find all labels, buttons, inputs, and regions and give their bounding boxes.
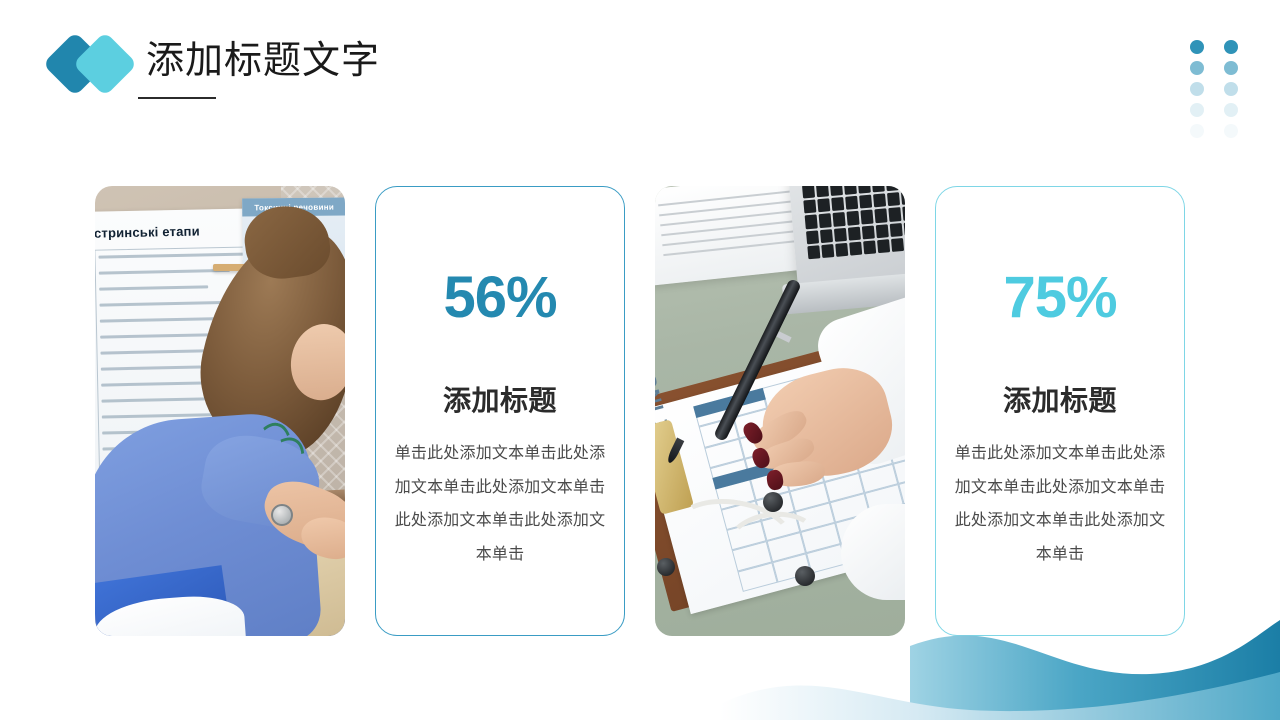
stat-card-1[interactable]: 56% 添加标题 单击此处添加文本单击此处添加文本单击此处添加文本单击此处添加文… [375, 186, 625, 636]
laptop-keyboard [802, 186, 905, 259]
dot [1190, 124, 1204, 138]
dot [1190, 103, 1204, 117]
dot [1190, 61, 1204, 75]
stat-heading: 添加标题 [1003, 379, 1117, 419]
dot [1224, 61, 1238, 75]
dot [1190, 40, 1204, 54]
stethoscope-earpiece [657, 558, 675, 576]
wave-light [720, 672, 1280, 720]
poster-title: стринські етапи [95, 222, 252, 242]
page-title: 添加标题文字 [146, 41, 380, 83]
photo-nurse-cpr-training: стринські етапи Токсичні речовини Шланди… [95, 186, 345, 636]
stat-card-2[interactable]: 75% 添加标题 单击此处添加文本单击此处添加文本单击此处添加文本单击此处添加文… [935, 186, 1185, 636]
dot [1190, 82, 1204, 96]
photo-life-insurance-form: LIFE INSURANCE [655, 186, 905, 636]
dot-grid [1190, 40, 1238, 145]
slide-canvas: 添加标题文字 стринські етапи [0, 0, 1280, 720]
dot [1224, 82, 1238, 96]
photo-nurse-illustration: стринські етапи Токсичні речовини Шланди… [95, 186, 345, 636]
slide-header: 添加标题文字 [50, 28, 380, 100]
stat-heading: 添加标题 [443, 379, 557, 419]
stethoscope-chestpiece [271, 504, 293, 526]
dot [1224, 103, 1238, 117]
stethoscope-earpiece [795, 566, 815, 586]
content-row: стринські етапи Токсичні речовини Шланди… [0, 186, 1280, 636]
dot [1224, 40, 1238, 54]
stat-value: 56% [443, 269, 556, 327]
photo-insurance-illustration: LIFE INSURANCE [655, 186, 905, 636]
stat-value: 75% [1003, 269, 1116, 327]
stat-body-text: 单击此处添加文本单击此处添加文本单击此处添加文本单击此处添加文本单击此处添加文本… [394, 437, 606, 571]
dot [1224, 124, 1238, 138]
title-underline [138, 97, 216, 99]
stethoscope-earpiece [763, 492, 783, 512]
stat-body-text: 单击此处添加文本单击此处添加文本单击此处添加文本单击此处添加文本单击此处添加文本… [954, 437, 1166, 571]
title-wrapper: 添加标题文字 [146, 41, 380, 87]
diamond-logo [50, 33, 136, 95]
